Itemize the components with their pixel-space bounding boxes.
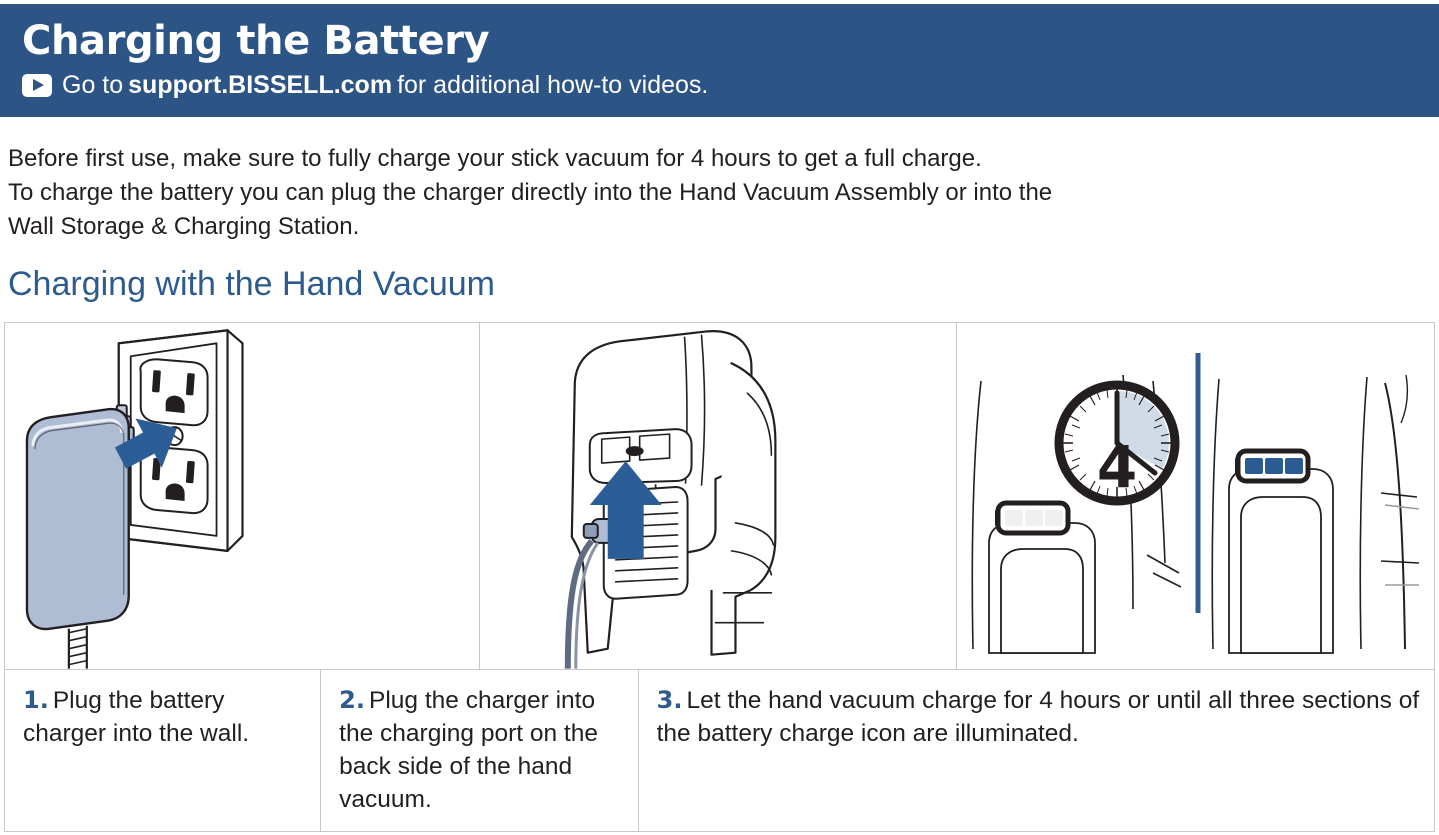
steps-illustration-row: 4 [5,323,1434,670]
step-3-number: 3. [657,686,683,714]
intro-line-1: Before first use, make sure to fully cha… [8,142,1428,176]
intro-paragraph: Before first use, make sure to fully cha… [8,142,1428,244]
step-2-number: 2. [339,686,365,714]
steps-caption-row: 1.Plug the battery charger into the wall… [5,670,1434,831]
support-site-link[interactable]: support.BISSELL.com [128,70,392,100]
step-3-text: Let the hand vacuum charge for 4 hours o… [657,687,1420,747]
clock-four-hours-and-battery-indicator-illustration: 4 [957,323,1434,669]
step-2-text: Plug the charger into the charging port … [339,687,598,813]
step-1-number: 1. [23,686,49,714]
intro-line-3: Wall Storage & Charging Station. [8,210,1428,244]
intro-line-2: To charge the battery you can plug the c… [8,176,1428,210]
step-2-caption: 2.Plug the charger into the charging por… [321,670,638,831]
section-heading: Charging with the Hand Vacuum [8,263,495,305]
step-1-caption: 1.Plug the battery charger into the wall… [5,670,321,831]
page-title: Charging the Battery [22,18,1439,64]
step-1-text: Plug the battery charger into the wall. [23,687,249,747]
battery-icon-empty [995,503,1068,533]
manual-page: Charging the Battery Go to support.BISSE… [0,0,1439,835]
charger-plugging-into-wall-outlet-illustration [5,323,479,669]
step-1-illustration-cell [5,323,480,669]
header-subtitle: Go to support.BISSELL.com for additional… [22,70,1439,100]
play-icon [22,74,52,97]
charger-cord-into-hand-vacuum-port-illustration [480,323,956,669]
clock-icon: 4 [1059,385,1175,501]
steps-grid: 4 [4,322,1435,832]
step-2-illustration-cell [480,323,957,669]
step-3-illustration-cell: 4 [957,323,1434,669]
battery-icon-full [1235,451,1308,481]
step-3-caption: 3.Let the hand vacuum charge for 4 hours… [639,670,1434,831]
subtitle-suffix: for additional how-to videos. [397,70,708,100]
subtitle-prefix: Go to [62,70,123,100]
clock-hours-number: 4 [1097,433,1137,501]
section-header-band: Charging the Battery Go to support.BISSE… [0,4,1439,117]
